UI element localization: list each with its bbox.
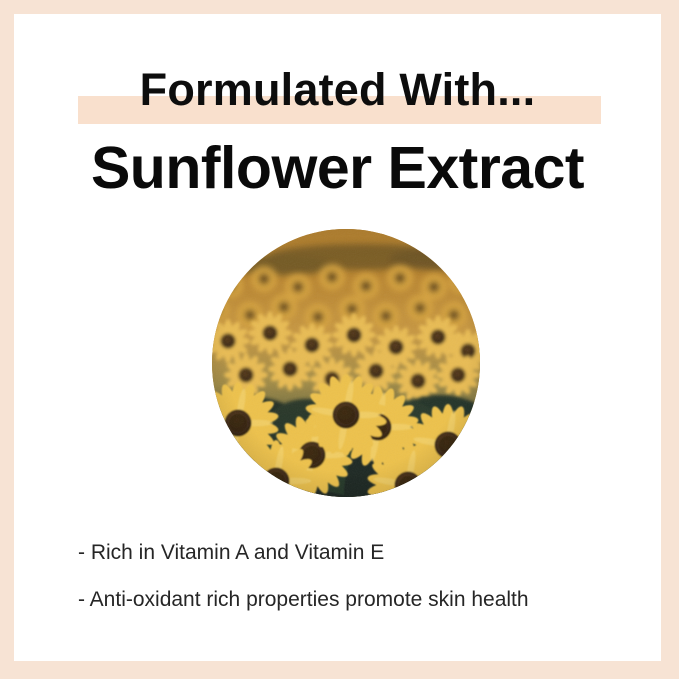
eyebrow-heading-group: Formulated With... [14,62,661,126]
benefits-list: - Rich in Vitamin A and Vitamin E - Anti… [78,539,648,633]
page-title: Sunflower Extract [14,132,661,204]
eyebrow-heading: Formulated With... [14,62,661,118]
sunflower-field-illustration [212,229,480,497]
product-feature-poster: Formulated With... Sunflower Extract [0,0,679,679]
list-item: - Anti-oxidant rich properties promote s… [78,586,648,613]
sunflower-field-photo [212,229,480,497]
poster-card: Formulated With... Sunflower Extract [14,14,661,661]
list-item: - Rich in Vitamin A and Vitamin E [78,539,648,566]
